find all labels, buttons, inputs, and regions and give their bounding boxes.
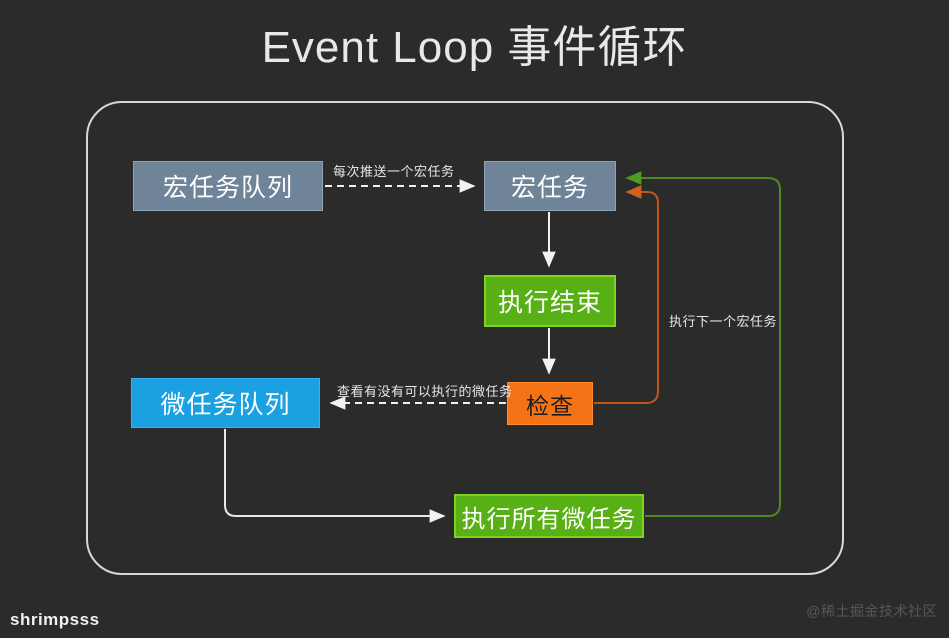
diagram-canvas: Event Loop 事件循环 (0, 0, 949, 638)
author-signature: shrimpsss (10, 610, 100, 630)
node-execution-finished[interactable]: 执行结束 (484, 275, 616, 327)
edge-label-check-micro-tasks: 查看有没有可以执行的微任务 (337, 381, 513, 400)
node-micro-task-queue[interactable]: 微任务队列 (131, 378, 320, 428)
node-macro-task[interactable]: 宏任务 (484, 161, 616, 211)
node-check-label: 检查 (526, 387, 574, 421)
edge-label-push-one-macro-task: 每次推送一个宏任务 (333, 161, 455, 180)
node-run-all-micro-tasks-label: 执行所有微任务 (462, 499, 637, 534)
node-check[interactable]: 检查 (507, 382, 593, 425)
node-macro-task-queue[interactable]: 宏任务队列 (133, 161, 323, 211)
edge-label-next-macro-task: 执行下一个宏任务 (669, 311, 777, 330)
site-watermark: @稀土掘金技术社区 (806, 601, 937, 621)
page-title: Event Loop 事件循环 (0, 18, 949, 78)
node-macro-task-label: 宏任务 (511, 168, 589, 204)
node-run-all-micro-tasks[interactable]: 执行所有微任务 (454, 494, 644, 538)
node-execution-finished-label: 执行结束 (498, 283, 602, 319)
node-macro-task-queue-label: 宏任务队列 (163, 168, 293, 204)
node-micro-task-queue-label: 微任务队列 (160, 385, 290, 421)
